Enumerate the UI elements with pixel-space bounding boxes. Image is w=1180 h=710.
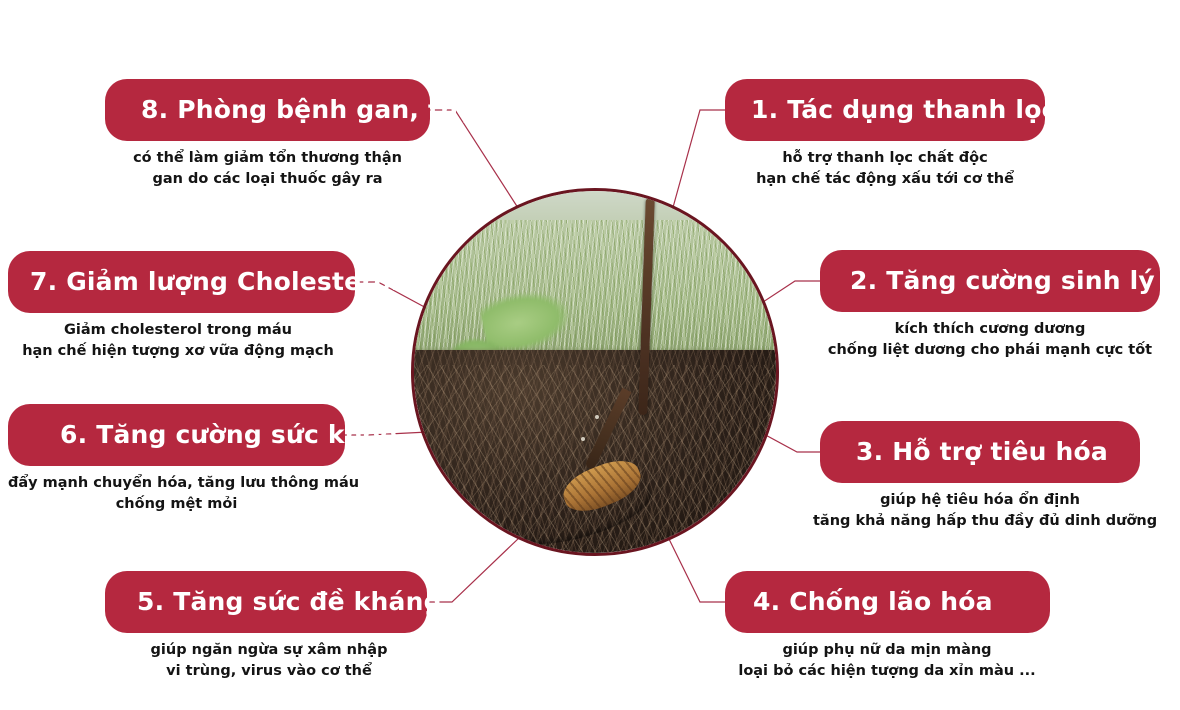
infographic-canvas: 1. Tác dụng thanh lọc hỗ trợ thanh lọc c… xyxy=(0,0,1180,710)
benefit-badge-6[interactable]: 6. Tăng cường sức khỏe xyxy=(8,404,345,466)
benefit-subtitle-7-line1: Giảm cholesterol trong máu xyxy=(8,320,348,341)
benefit-subtitle-7-line2: hạn chế hiện tượng xơ vữa động mạch xyxy=(8,341,348,362)
benefit-title-1: 1. Tác dụng thanh lọc xyxy=(751,97,1057,123)
benefit-badge-5[interactable]: 5. Tăng sức đề kháng xyxy=(105,571,427,633)
benefit-subtitle-3-line2: tăng khả năng hấp thu đầy đủ dinh dưỡng xyxy=(813,511,1147,532)
benefit-title-4: 4. Chống lão hóa xyxy=(753,589,993,615)
benefit-badge-4[interactable]: 4. Chống lão hóa xyxy=(725,571,1050,633)
benefit-title-5: 5. Tăng sức đề kháng xyxy=(137,589,442,615)
photo-speck-2 xyxy=(581,437,585,441)
benefit-subtitle-1: hỗ trợ thanh lọc chất độc hạn chế tác độ… xyxy=(725,148,1045,190)
benefit-subtitle-2-line2: chống liệt dương cho phái mạnh cực tốt xyxy=(820,340,1160,361)
benefit-subtitle-2: kích thích cương dương chống liệt dương … xyxy=(820,319,1160,361)
benefit-subtitle-6: đẩy mạnh chuyển hóa, tăng lưu thông máu … xyxy=(8,473,345,515)
benefit-subtitle-7: Giảm cholesterol trong máu hạn chế hiện … xyxy=(8,320,348,362)
benefit-subtitle-8-line2: gan do các loại thuốc gây ra xyxy=(105,169,430,190)
benefit-subtitle-3: giúp hệ tiêu hóa ổn định tăng khả năng h… xyxy=(813,490,1147,532)
benefit-title-3: 3. Hỗ trợ tiêu hóa xyxy=(856,439,1108,465)
benefit-badge-7[interactable]: 7. Giảm lượng Cholesterol xyxy=(8,251,355,313)
benefit-subtitle-8-line1: có thể làm giảm tổn thương thận xyxy=(105,148,430,169)
benefit-subtitle-4: giúp phụ nữ da mịn màng loại bỏ các hiện… xyxy=(722,640,1052,682)
benefit-subtitle-8: có thể làm giảm tổn thương thận gan do c… xyxy=(105,148,430,190)
benefit-title-6: 6. Tăng cường sức khỏe xyxy=(60,422,397,448)
benefit-subtitle-4-line2: loại bỏ các hiện tượng da xỉn màu ... xyxy=(722,661,1052,682)
benefit-badge-2[interactable]: 2. Tăng cường sinh lý xyxy=(820,250,1160,312)
benefit-subtitle-5-line2: vi trùng, virus vào cơ thể xyxy=(110,661,428,682)
benefit-title-7: 7. Giảm lượng Cholesterol xyxy=(30,269,400,295)
benefit-title-8: 8. Phòng bệnh gan, thận xyxy=(141,97,493,123)
benefit-badge-8[interactable]: 8. Phòng bệnh gan, thận xyxy=(105,79,430,141)
benefit-subtitle-1-line2: hạn chế tác động xấu tới cơ thể xyxy=(725,169,1045,190)
benefit-subtitle-6-line2: chống mệt mỏi xyxy=(8,494,345,515)
benefit-subtitle-1-line1: hỗ trợ thanh lọc chất độc xyxy=(725,148,1045,169)
benefit-subtitle-4-line1: giúp phụ nữ da mịn màng xyxy=(722,640,1052,661)
photo-inner xyxy=(414,191,776,553)
benefit-badge-3[interactable]: 3. Hỗ trợ tiêu hóa xyxy=(820,421,1140,483)
benefit-subtitle-6-line1: đẩy mạnh chuyển hóa, tăng lưu thông máu xyxy=(8,473,345,494)
benefit-badge-1[interactable]: 1. Tác dụng thanh lọc xyxy=(725,79,1045,141)
center-photo xyxy=(411,188,779,556)
benefit-subtitle-2-line1: kích thích cương dương xyxy=(820,319,1160,340)
benefit-subtitle-5-line1: giúp ngăn ngừa sự xâm nhập xyxy=(110,640,428,661)
benefit-subtitle-3-line1: giúp hệ tiêu hóa ổn định xyxy=(813,490,1147,511)
benefit-title-2: 2. Tăng cường sinh lý xyxy=(850,268,1155,294)
benefit-subtitle-5: giúp ngăn ngừa sự xâm nhập vi trùng, vir… xyxy=(110,640,428,682)
